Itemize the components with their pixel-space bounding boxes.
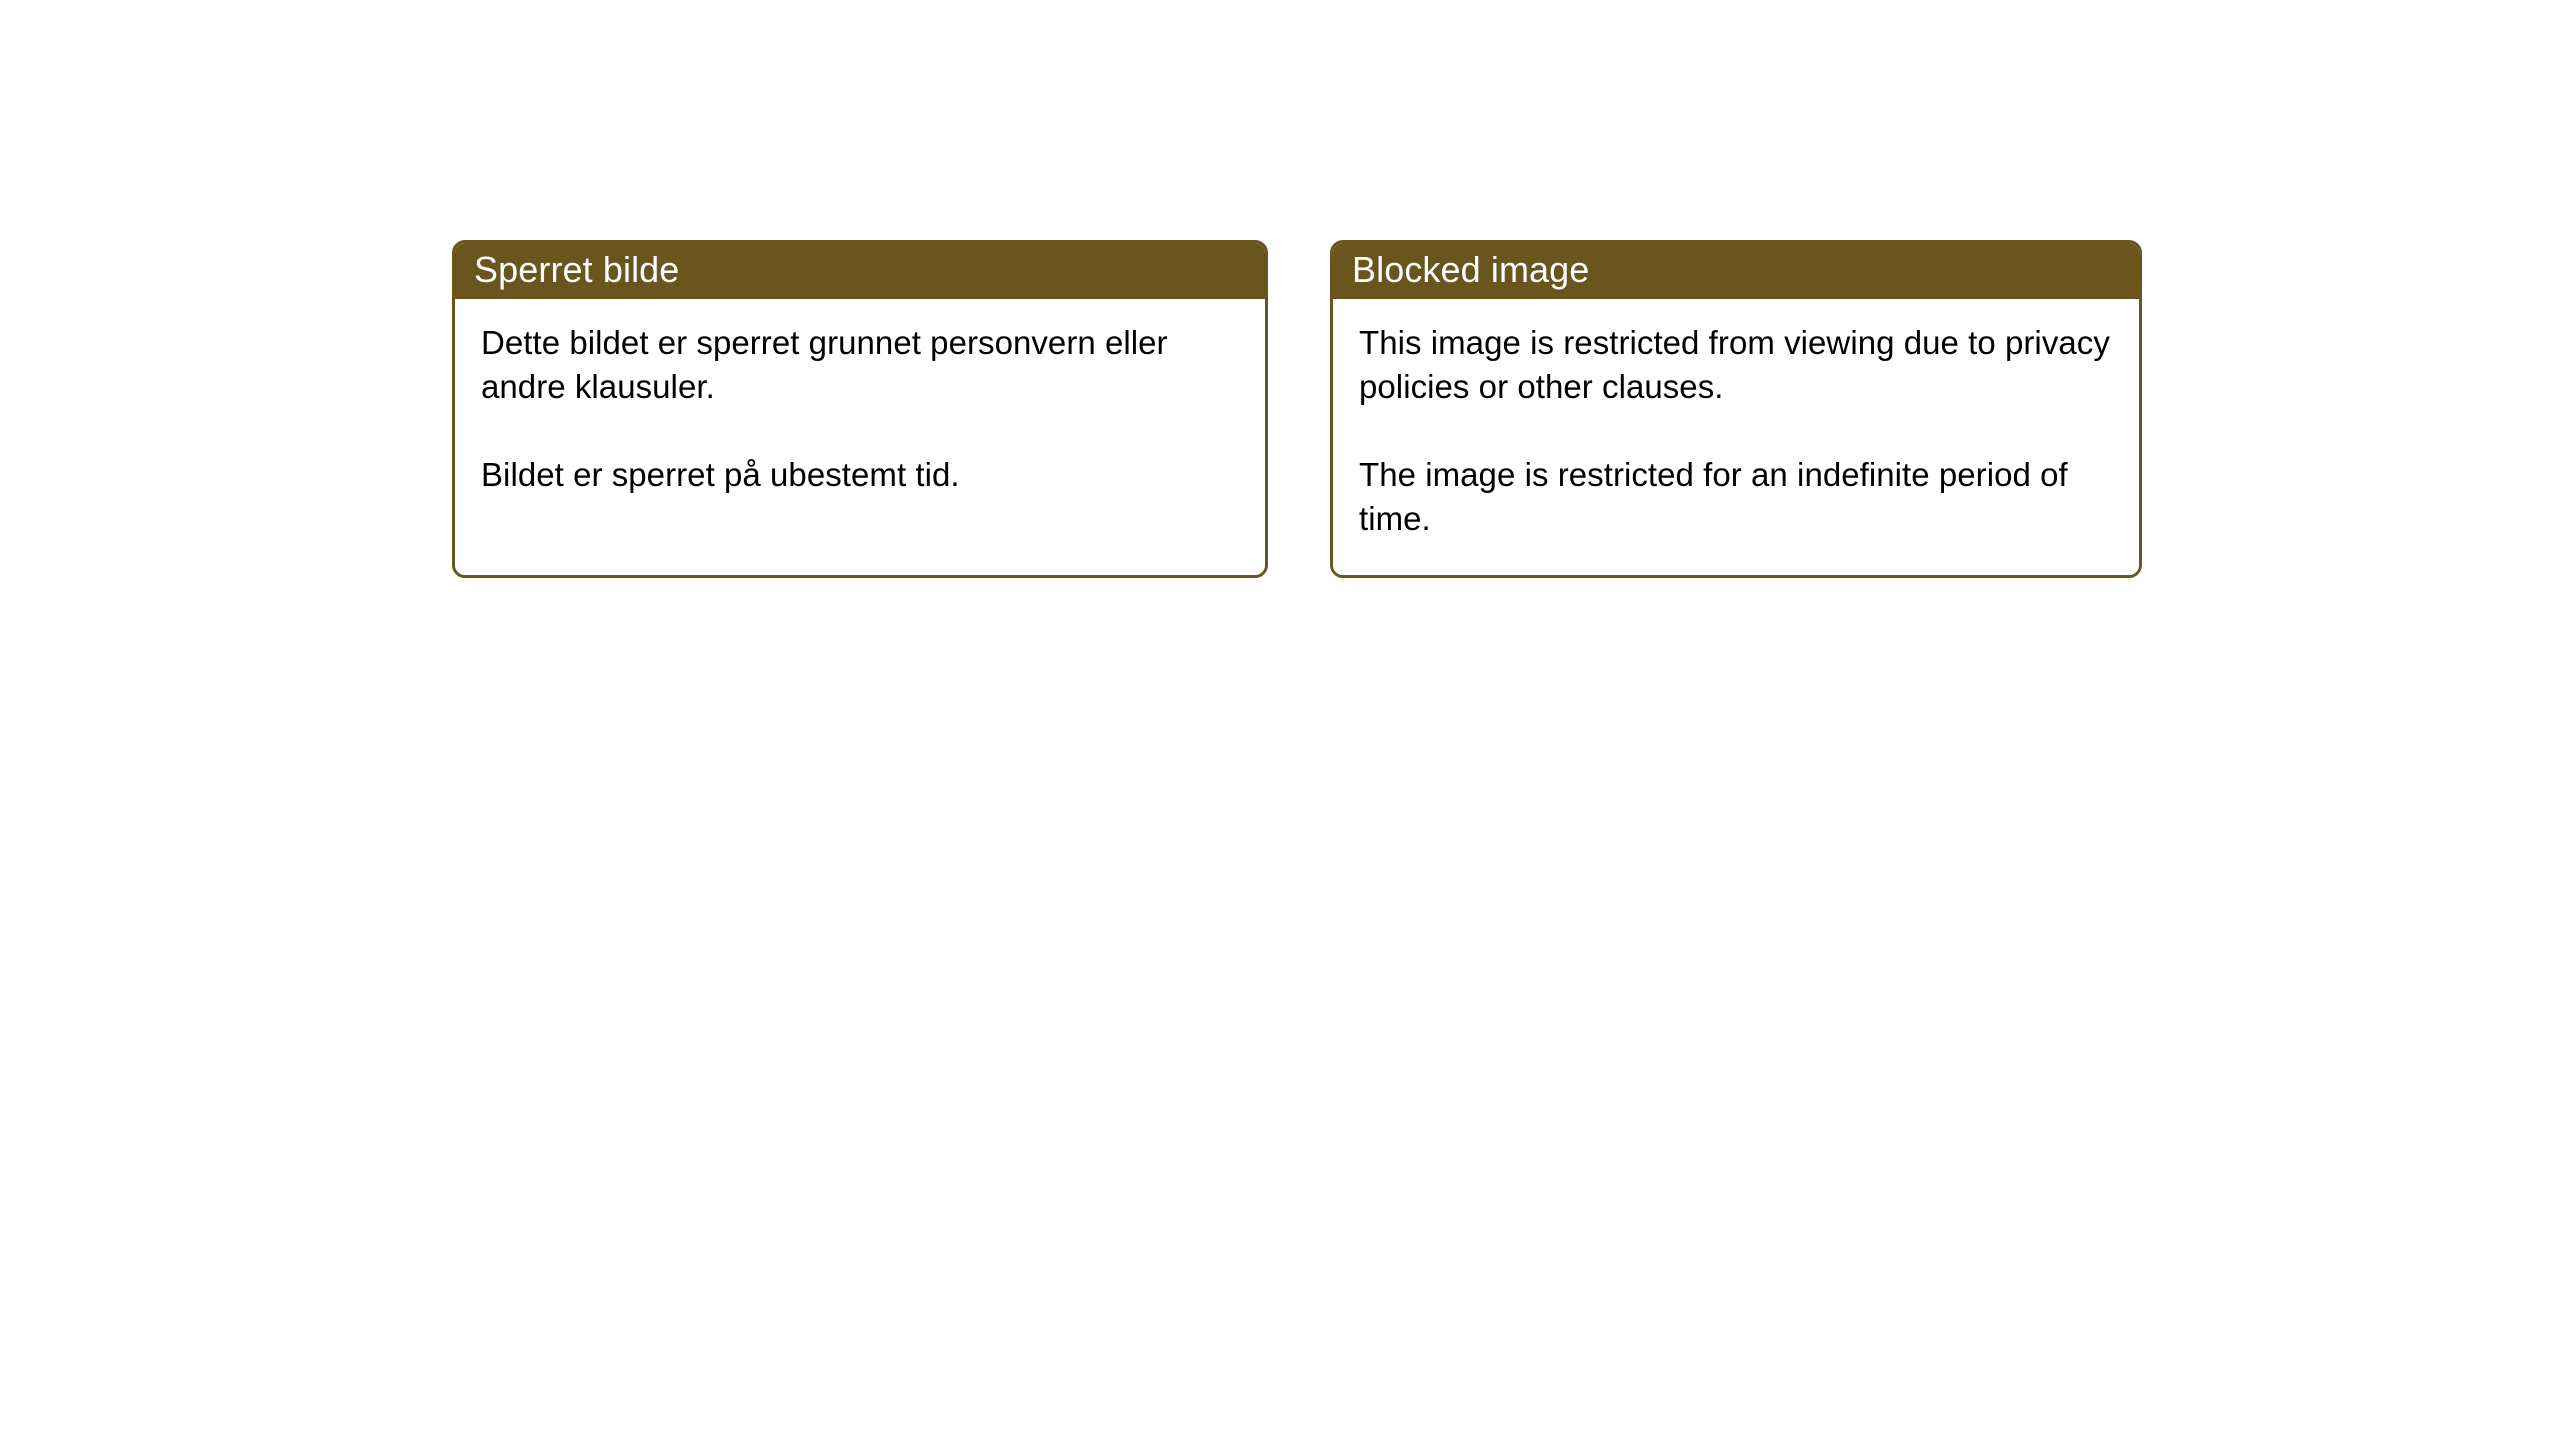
page-background: Sperret bilde Dette bildet er sperret gr… [0, 0, 2560, 1440]
card-paragraph-reason-english: This image is restricted from viewing du… [1359, 321, 2113, 409]
card-body-norwegian: Dette bildet er sperret grunnet personve… [455, 299, 1265, 575]
blocked-image-notice-card-english: Blocked image This image is restricted f… [1330, 240, 2142, 578]
card-title-english: Blocked image [1352, 250, 1589, 290]
card-body-english: This image is restricted from viewing du… [1333, 299, 2139, 575]
card-paragraph-reason-norwegian: Dette bildet er sperret grunnet personve… [481, 321, 1239, 409]
card-paragraph-duration-norwegian: Bildet er sperret på ubestemt tid. [481, 453, 1239, 497]
card-paragraph-duration-english: The image is restricted for an indefinit… [1359, 453, 2113, 541]
card-header-english: Blocked image [1330, 240, 2142, 299]
card-header-norwegian: Sperret bilde [452, 240, 1268, 299]
card-title-norwegian: Sperret bilde [474, 250, 679, 290]
blocked-image-notice-card-norwegian: Sperret bilde Dette bildet er sperret gr… [452, 240, 1268, 578]
